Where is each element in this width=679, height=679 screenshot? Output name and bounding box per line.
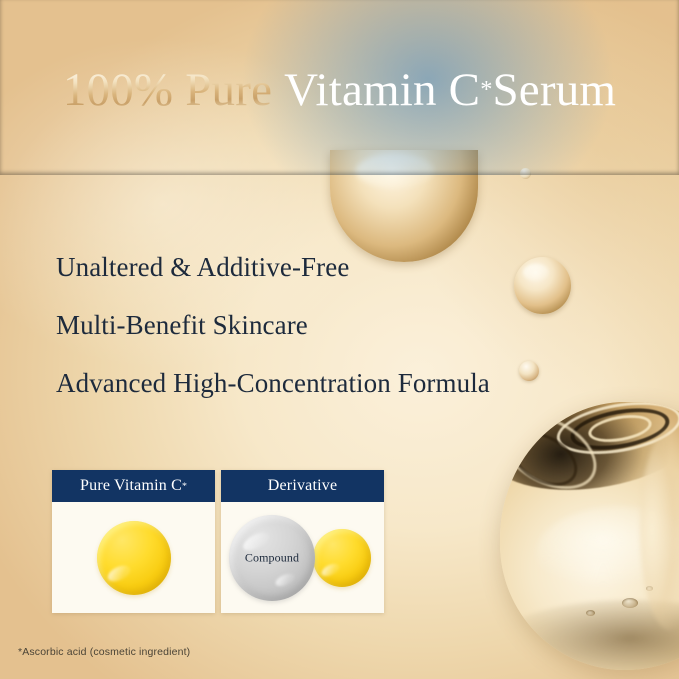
footnote: *Ascorbic acid (cosmetic ingredient) xyxy=(18,646,190,658)
comparison-table: Pure Vitamin C* Derivative Compound xyxy=(52,470,384,613)
feature-line-2: Multi-Benefit Skincare xyxy=(56,312,616,339)
comparison-body-pure-vitamin-c xyxy=(52,502,215,613)
drop-highlight-secondary xyxy=(274,571,296,588)
product-infographic: 100% Pure Vitamin C* Serum Unaltered & A… xyxy=(0,0,679,679)
feature-line-3: Advanced High-Concentration Formula xyxy=(56,370,616,397)
derivative-vitamin-c-drop-icon xyxy=(313,529,371,587)
comparison-header-pure-vitamin-c: Pure Vitamin C* xyxy=(52,470,215,502)
comparison-header-derivative-label: Derivative xyxy=(268,477,338,495)
feature-list: Unaltered & Additive-Free Multi-Benefit … xyxy=(56,254,616,397)
page-title: 100% Pure Vitamin C* Serum xyxy=(0,0,679,175)
comparison-body-derivative: Compound xyxy=(221,502,384,613)
feature-line-1: Unaltered & Additive-Free xyxy=(56,254,616,281)
page-title-white-tail: Serum xyxy=(492,67,616,114)
comparison-header-pure-vitamin-c-asterisk: * xyxy=(182,481,187,492)
comparison-column-derivative: Derivative Compound xyxy=(221,470,384,613)
comparison-header-derivative: Derivative xyxy=(221,470,384,502)
drop-highlight xyxy=(320,561,341,578)
pure-vitamin-c-drop-icon xyxy=(97,521,171,595)
page-title-asterisk: * xyxy=(480,78,492,102)
page-title-white: Vitamin C xyxy=(284,67,480,114)
drop-highlight xyxy=(105,562,132,584)
comparison-header-pure-vitamin-c-label: Pure Vitamin C xyxy=(80,477,182,495)
comparison-column-pure-vitamin-c: Pure Vitamin C* xyxy=(52,470,215,613)
compound-label: Compound xyxy=(229,550,315,565)
page-title-gold: 100% Pure xyxy=(63,67,272,114)
